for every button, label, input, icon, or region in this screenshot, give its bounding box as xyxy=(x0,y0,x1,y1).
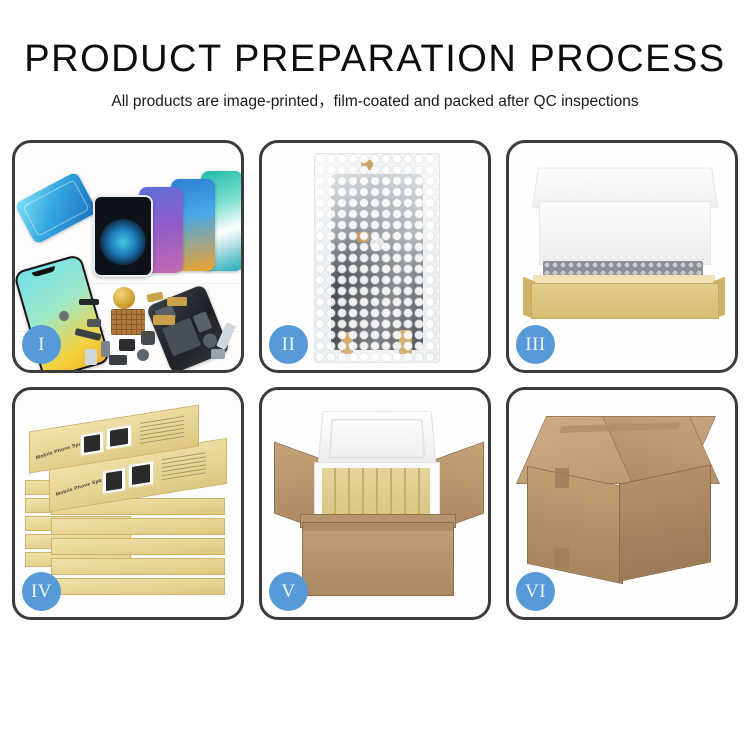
foam-cooler-lid xyxy=(317,411,436,467)
page-subtitle: All products are image-printed，film-coat… xyxy=(0,92,750,112)
process-step-3: III xyxy=(506,140,738,373)
product-swatch xyxy=(128,460,154,488)
process-step-1: I xyxy=(12,140,244,373)
process-step-5: V xyxy=(259,387,491,620)
spare-part xyxy=(137,349,149,361)
seal-tape-lower xyxy=(555,548,569,568)
product-swatch xyxy=(102,467,126,495)
carton-face-right xyxy=(619,464,711,582)
seal-tape-upper xyxy=(555,468,569,488)
step-badge-4: IV xyxy=(22,572,61,611)
spare-part xyxy=(119,339,135,351)
product-swatch xyxy=(80,431,104,457)
step-badge-2: II xyxy=(269,325,308,364)
kraft-boxes-inside xyxy=(322,468,430,518)
phone-front-glass xyxy=(93,195,153,277)
spare-part xyxy=(85,349,97,365)
product-preparation-infographic: PRODUCT PREPARATION PROCESS All products… xyxy=(0,0,750,750)
stacked-box xyxy=(51,538,225,555)
stacked-box xyxy=(51,518,225,535)
step-badge-5: V xyxy=(269,572,308,611)
spare-part xyxy=(141,331,155,345)
bubble-wrap-package xyxy=(314,153,440,363)
process-step-2: II xyxy=(259,140,491,373)
product-swatch xyxy=(106,424,132,450)
phone-back-cover-blue xyxy=(15,171,98,244)
spare-part xyxy=(153,315,175,325)
spare-part xyxy=(87,319,101,327)
kraft-box-front xyxy=(531,283,719,319)
process-step-4: Mobile Phone Spare Parts Mobile Phone Sp… xyxy=(12,387,244,620)
page-title: PRODUCT PREPARATION PROCESS xyxy=(0,38,750,80)
stacked-box xyxy=(51,578,225,595)
spare-part xyxy=(59,311,69,321)
spare-part xyxy=(79,299,99,305)
spare-part xyxy=(167,297,187,306)
process-grid: I II xyxy=(12,140,738,620)
carton-body xyxy=(302,522,454,596)
stacked-box xyxy=(51,558,225,575)
plastic-sheen xyxy=(315,154,439,362)
foam-sheet xyxy=(539,201,711,265)
header: PRODUCT PREPARATION PROCESS All products… xyxy=(0,0,750,112)
step-badge-3: III xyxy=(516,325,555,364)
chip-grid-part xyxy=(111,309,145,335)
vibration-motor-part xyxy=(113,287,135,309)
spare-part xyxy=(211,349,225,359)
carton-face-left xyxy=(527,466,623,584)
step-badge-6: VI xyxy=(516,572,555,611)
spare-part xyxy=(109,355,127,365)
step-badge-1: I xyxy=(22,325,61,364)
process-step-6: VI xyxy=(506,387,738,620)
